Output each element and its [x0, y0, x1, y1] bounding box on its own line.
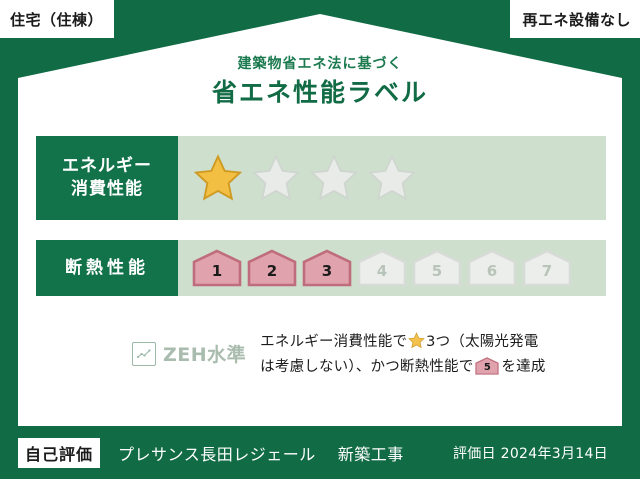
inline-insulation-badge-value: 5: [475, 357, 499, 375]
insulation-level-value: 1: [192, 249, 242, 287]
inline-insulation-badge: 5: [475, 357, 499, 375]
energy-consumption-row: エネルギー 消費性能: [36, 136, 606, 220]
insulation-level-badge: 4: [357, 249, 407, 287]
star-icon-empty: [250, 153, 302, 203]
energy-label-line1: エネルギー: [62, 155, 152, 178]
evaluation-date: 評価日 2024年3月14日: [453, 443, 608, 463]
insulation-performance-row: 断熱性能 1234567: [36, 240, 606, 296]
insulation-level-badge: 7: [522, 249, 572, 287]
insulation-level-value: 5: [412, 249, 462, 287]
star-icon: [408, 332, 425, 349]
work-type: 新築工事: [338, 441, 404, 465]
energy-consumption-label: エネルギー 消費性能: [36, 136, 178, 220]
energy-performance-label: 住宅（住棟） 再エネ設備なし 建築物省エネ法に基づく 省エネ性能ラベル エネルギ…: [0, 0, 640, 479]
renewable-equipment-tag: 再エネ設備なし: [510, 0, 640, 38]
title-main: 省エネ性能ラベル: [0, 76, 640, 110]
insulation-level-value: 4: [357, 249, 407, 287]
building-type-tag: 住宅（住棟）: [0, 0, 114, 38]
zeh-standard-note: ZEH水準 エネルギー消費性能で 3つ（太陽光発電 は考慮しない）、かつ断熱性能…: [36, 330, 606, 380]
insulation-level-badges: 1234567: [192, 249, 572, 287]
zeh-description: エネルギー消費性能で 3つ（太陽光発電 は考慮しない）、かつ断熱性能で 5 を達…: [260, 330, 606, 380]
insulation-level-value: 2: [247, 249, 297, 287]
zeh-desc-part4: を達成: [501, 359, 545, 375]
evaluation-type-tag: 自己評価: [18, 438, 100, 468]
insulation-level-value: 6: [467, 249, 517, 287]
title-block: 建築物省エネ法に基づく 省エネ性能ラベル: [0, 56, 640, 110]
zeh-brand: ZEH水準: [36, 330, 246, 367]
insulation-level-value: 7: [522, 249, 572, 287]
title-subtitle: 建築物省エネ法に基づく: [0, 56, 640, 73]
star-icon-empty: [308, 153, 360, 203]
insulation-level-badge: 1: [192, 249, 242, 287]
insulation-level-badge: 6: [467, 249, 517, 287]
energy-label-line2: 消費性能: [71, 178, 143, 201]
zeh-desc-part2: 3つ（太陽光発電: [426, 334, 538, 350]
star-icon-empty: [366, 153, 418, 203]
insulation-level-badge: 3: [302, 249, 352, 287]
insulation-label-text: 断熱性能: [65, 257, 149, 280]
footer-bar: 自己評価 プレサンス長田レジェール 新築工事 評価日 2024年3月14日: [0, 426, 640, 479]
zeh-desc-part1: エネルギー消費性能で: [260, 334, 407, 350]
insulation-level-badge: 5: [412, 249, 462, 287]
insulation-level-badge: 2: [247, 249, 297, 287]
zeh-chart-icon: [132, 342, 156, 366]
insulation-performance-label: 断熱性能: [36, 240, 178, 296]
property-name: プレサンス長田レジェール: [118, 441, 316, 465]
insulation-levels-body: 1234567: [178, 240, 606, 296]
zeh-brand-label: ZEH水準: [163, 340, 246, 367]
zeh-desc-part3: は考慮しない）、かつ断熱性能で: [260, 359, 473, 375]
star-rating: [178, 136, 606, 220]
insulation-level-value: 3: [302, 249, 352, 287]
star-icon-filled: [192, 153, 244, 203]
